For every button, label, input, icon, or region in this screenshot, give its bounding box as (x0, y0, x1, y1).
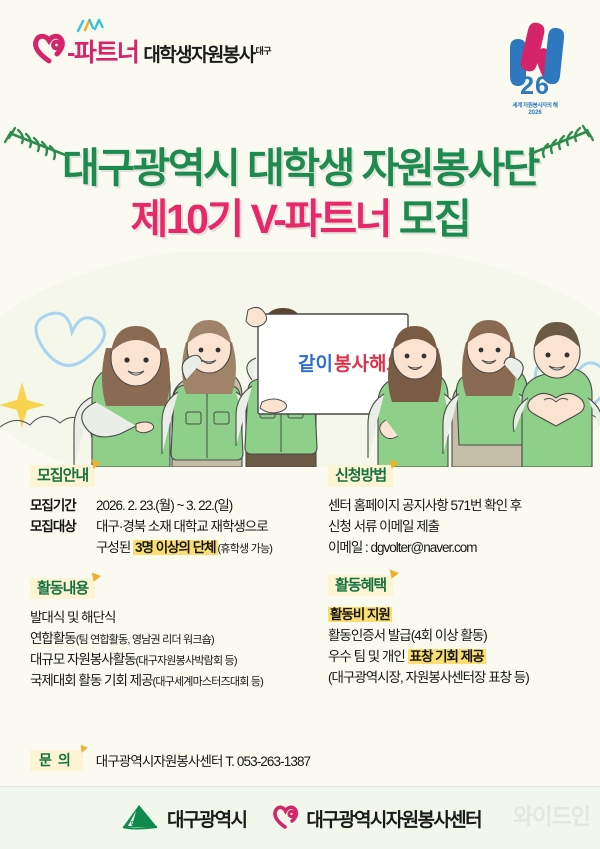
badge-caption: 세계 자원봉사자의 해 (492, 101, 578, 109)
footer-org-daegu: DAEGU 대구광역시 (119, 802, 246, 835)
activity-item: 연합활동(팀 연합활동, 영남권 리더 워크숍) (30, 629, 330, 650)
logo-region: 대구 (256, 44, 272, 57)
activity-item-note: (팀 연합활동, 영남권 리더 워크숍) (76, 634, 214, 646)
poster-info: 모집안내 모집기간 2026. 2. 23.(월) ~ 3. 22.(일) 모집… (0, 465, 600, 785)
ivy26-badge: 26 세계 자원봉사자의 해 2026 (492, 8, 578, 116)
poster-title-block: 대구광역시 대학생 자원봉사단 제10기 V-파트너 모집 (0, 122, 600, 262)
logo-subtitle: 대학생자원봉사 (143, 46, 254, 65)
activity-item-note: (대구자원봉사박람회 등) (136, 655, 237, 667)
sign-text-blue: 같이 (298, 353, 333, 375)
contact-label: 문의 (30, 750, 83, 771)
daegu-mountain-icon: DAEGU (119, 802, 161, 835)
contact-row: 문의 대구광역시자원봉사센터 T. 053-263-1387 (30, 750, 310, 771)
activity-item: 발대식 및 해단식 (30, 608, 330, 629)
apply-email-line: 이메일 : dgvolter@naver.com (328, 538, 590, 559)
recruit-target-highlight: 3명 이상의 단체 (133, 540, 218, 555)
section-heading-recruit-label: 모집안내 (37, 467, 88, 484)
title-line-2-pink: 제10기 V-파트너 (131, 196, 390, 242)
apply-lines: 센터 홈페이지 공지사항 571번 확인 후 신청 서류 이메일 제출 이메일 … (328, 496, 590, 559)
ribbon-corner-icon (89, 572, 101, 583)
apply-line: 센터 홈페이지 공지사항 571번 확인 후 (328, 496, 590, 517)
watermark: 와이드인 (513, 799, 590, 831)
poster-header: -파트너 대학생자원봉사 대구 26 세계 자원봉사자의 해 2026 (0, 0, 600, 122)
recruit-row-period: 모집기간 2026. 2. 23.(월) ~ 3. 22.(일) (30, 496, 330, 517)
footer-org-daegu-label: 대구광역시 (167, 805, 246, 832)
benefit-line-certificate: 활동인증서 발급(4회 이상 활동) (328, 626, 590, 647)
section-heading-recruit: 모집안내 (30, 465, 95, 487)
footer-org-center: 대구광역시자원봉사센터 (272, 803, 481, 834)
ivy26-badge-mark: 26 (492, 8, 578, 100)
activity-item: 대규모 자원봉사활동(대구자원봉사박람회 등) (30, 650, 330, 671)
benefit-lines: 활동비 지원 활동인증서 발급(4회 이상 활동) 우수 팀 및 개인 표창 기… (328, 605, 590, 689)
info-column-right: 신청방법 센터 홈페이지 공지사항 571번 확인 후 신청 서류 이메일 제출… (328, 465, 590, 689)
recruit-target-prefix: 구성된 (96, 540, 133, 555)
apply-line: 신청 서류 이메일 제출 (328, 517, 590, 538)
section-heading-benefit-label: 활동혜택 (335, 577, 386, 594)
contact-value: 대구광역시자원봉사센터 T. 053-263-1387 (96, 750, 310, 770)
volunteers-illustration: 같이 봉사해요 (0, 252, 600, 467)
recruit-rows: 모집기간 2026. 2. 23.(월) ~ 3. 22.(일) 모집대상 대구… (30, 496, 330, 559)
v-partner-logo: -파트너 대학생자원봉사 대구 (32, 30, 271, 64)
activity-block: 활동내용 발대식 및 해단식 연합활동(팀 연합활동, 영남권 리더 워크숍) … (30, 578, 330, 692)
recruit-target-value: 대구·경북 소재 대학교 재학생으로 (96, 517, 330, 538)
benefit-line-award: 우수 팀 및 개인 표창 기회 제공 (328, 647, 590, 668)
heart-icon (272, 803, 300, 834)
poster-footer: DAEGU 대구광역시 대구광역시자원봉사센터 와이드인 (0, 786, 600, 849)
activity-list: 발대식 및 해단식 연합활동(팀 연합활동, 영남권 리더 워크숍) 대규모 자… (30, 608, 330, 692)
title-line-1: 대구광역시 대학생 자원봉사단 (0, 148, 600, 189)
activity-item-main: 발대식 및 해단식 (30, 610, 115, 625)
ribbon-corner-icon (78, 745, 88, 754)
benefit-block: 활동혜택 활동비 지원 활동인증서 발급(4회 이상 활동) 우수 팀 및 개인… (328, 575, 590, 689)
footer-org-center-label: 대구광역시자원봉사센터 (306, 805, 481, 832)
ribbon-corner-icon (387, 569, 399, 580)
activity-item-main: 연합활동 (30, 631, 76, 646)
title-line-2: 제10기 V-파트너 모집 (0, 199, 600, 240)
recruit-target-value-line2: 구성된 3명 이상의 단체(휴학생 가능) (30, 538, 330, 559)
heart-icon (32, 30, 66, 64)
benefit-line-award-note: (대구광역시장, 자원봉사센터장 표창 등) (328, 668, 590, 689)
leaf-branch-icon (520, 124, 594, 175)
info-column-left: 모집안내 모집기간 2026. 2. 23.(월) ~ 3. 22.(일) 모집… (30, 465, 330, 692)
benefit-highlight-line: 활동비 지원 (328, 605, 590, 626)
recruit-target-label: 모집대상 (30, 517, 96, 538)
logo-brand: -파트너 (67, 41, 138, 66)
sparkle-icon (76, 18, 110, 39)
badge-year: 2026 (492, 110, 578, 116)
recruit-row-target: 모집대상 대구·경북 소재 대학교 재학생으로 (30, 517, 330, 538)
recruit-period-label: 모집기간 (30, 496, 96, 517)
contact-label-text: 문의 (39, 752, 77, 768)
activity-item-main: 국제대회 활동 기회 제공 (30, 673, 152, 688)
section-heading-benefit: 활동혜택 (328, 575, 393, 597)
poster-root: -파트너 대학생자원봉사 대구 26 세계 자원봉사자의 해 2026 (0, 0, 600, 849)
benefit-award-prefix: 우수 팀 및 개인 (328, 649, 408, 664)
section-heading-apply-label: 신청방법 (335, 467, 386, 484)
activity-item-note: (대구세계마스터즈대회 등) (152, 676, 263, 688)
activity-item-main: 대규모 자원봉사활동 (30, 652, 136, 667)
activity-item: 국제대회 활동 기회 제공(대구세계마스터즈대회 등) (30, 671, 330, 692)
benefit-award-highlight: 표창 기회 제공 (408, 649, 486, 664)
benefit-highlight-text: 활동비 지원 (328, 607, 392, 622)
section-heading-apply: 신청방법 (328, 465, 393, 487)
title-line-2-green: 모집 (399, 196, 469, 242)
section-heading-activity: 활동내용 (30, 578, 95, 600)
recruit-period-value: 2026. 2. 23.(월) ~ 3. 22.(일) (96, 496, 330, 517)
svg-text:26: 26 (520, 72, 550, 100)
recruit-target-suffix: (휴학생 가능) (218, 543, 273, 555)
section-heading-activity-label: 활동내용 (37, 580, 88, 597)
svg-text:DAEGU: DAEGU (131, 821, 150, 827)
leaf-branch-icon (4, 126, 78, 177)
